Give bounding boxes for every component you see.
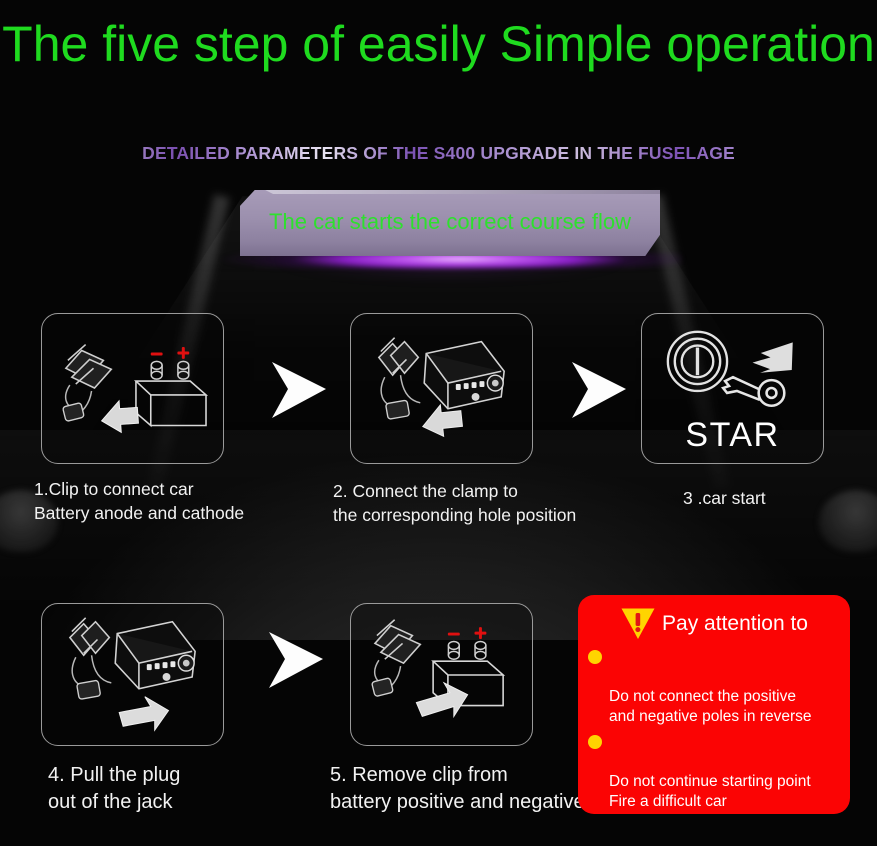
step-box-5[interactable] bbox=[350, 603, 533, 746]
clamps-to-battery-icon bbox=[42, 314, 223, 463]
bullet-dot-icon bbox=[588, 650, 602, 664]
unplug-jumpstarter-icon bbox=[42, 604, 223, 745]
warning-header: Pay attention to bbox=[578, 595, 850, 640]
warning-item: Do not continue starting point Fire a di… bbox=[588, 731, 842, 813]
step-box-1[interactable] bbox=[41, 313, 224, 464]
step-caption-4: 4. Pull the plug out of the jack bbox=[48, 762, 278, 816]
step-caption-1: 1.Clip to connect car Battery anode and … bbox=[34, 478, 284, 525]
step-caption-5: 5. Remove clip from battery positive and… bbox=[330, 762, 610, 816]
step-box-3[interactable]: STAR bbox=[641, 313, 824, 464]
clamps-to-jumpstarter-icon bbox=[351, 314, 532, 463]
bullet-dot-icon bbox=[588, 735, 602, 749]
step-caption-2: 2. Connect the clamp to the correspondin… bbox=[333, 480, 603, 527]
warning-triangle-icon bbox=[620, 607, 656, 640]
warning-heading: Pay attention to bbox=[662, 612, 808, 636]
step-box-4[interactable] bbox=[41, 603, 224, 746]
warning-item-text: Do not continue starting point Fire a di… bbox=[609, 773, 811, 810]
step-caption-3: 3 .car start bbox=[683, 487, 863, 511]
step-box-2[interactable] bbox=[350, 313, 533, 464]
product-infographic: The five step of easily Simple operation… bbox=[0, 0, 877, 846]
warning-item-text: Do not connect the positive and negative… bbox=[609, 688, 812, 725]
warning-list: Do not connect the positive and negative… bbox=[578, 646, 850, 813]
remove-clamps-from-battery-icon bbox=[351, 604, 532, 745]
star-label: STAR bbox=[642, 416, 823, 455]
warning-panel: Pay attention to Do not connect the posi… bbox=[578, 595, 850, 814]
warning-item: Do not connect the positive and negative… bbox=[588, 646, 842, 728]
